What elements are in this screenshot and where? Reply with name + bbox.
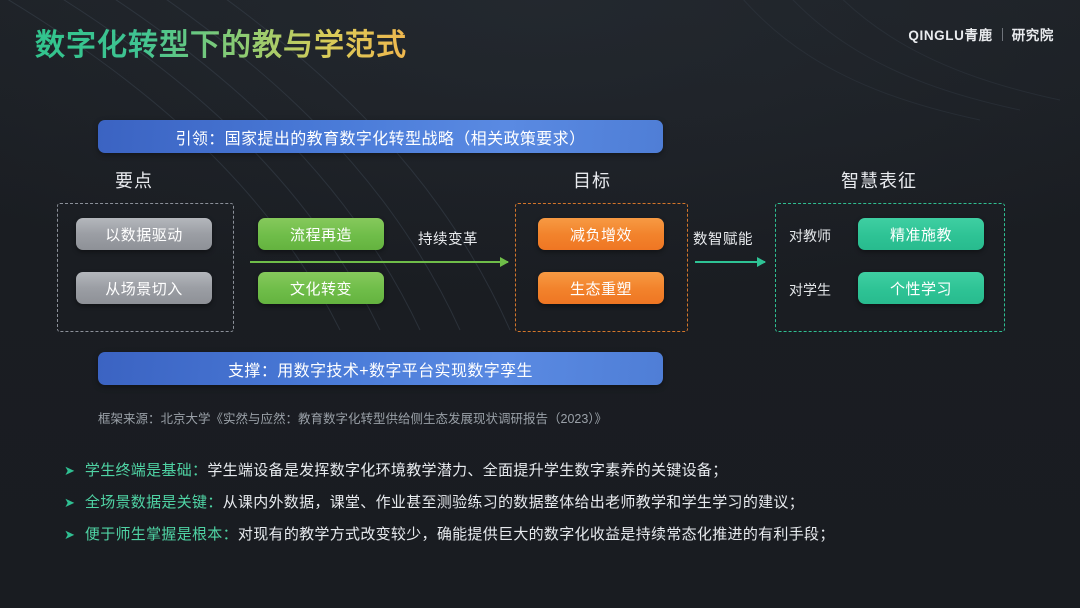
list-item: ➤ 便于师生掌握是根本： 对现有的教学方式改变较少，确能提供巨大的数字化收益是持…	[64, 523, 1064, 544]
box-reduce-burden[interactable]: 减负增效	[538, 218, 664, 250]
bullet-arrow-icon: ➤	[64, 464, 75, 477]
bullet-key-text: 学生终端是基础：	[85, 459, 207, 480]
banner-leadership: 引领：国家提出的教育数字化转型战略（相关政策要求）	[98, 120, 663, 153]
label-for-student: 对学生	[789, 280, 831, 300]
box-scene-entry[interactable]: 从场景切入	[76, 272, 212, 304]
logo-divider	[1002, 28, 1003, 41]
list-item: ➤ 学生终端是基础： 学生端设备是发挥数字化环境教学潜力、全面提升学生数字素养的…	[64, 459, 1064, 480]
brand-logo: QINGLU青鹿 研究院	[908, 24, 1054, 44]
arrow-right-teal-icon	[695, 261, 765, 263]
page-title: 数字化转型下的教与学范式	[35, 20, 407, 64]
box-ecology-reshape[interactable]: 生态重塑	[538, 272, 664, 304]
label-for-teacher: 对教师	[789, 226, 831, 246]
arrow-label-continuous-change: 持续变革	[418, 228, 478, 249]
slide-canvas: 数字化转型下的教与学范式 QINGLU青鹿 研究院 引领：国家提出的教育数字化转…	[0, 0, 1080, 608]
column-heading-smart: 智慧表征	[841, 167, 917, 193]
arrow-label-digital-empower: 数智赋能	[693, 228, 753, 249]
box-culture-change[interactable]: 文化转变	[258, 272, 384, 304]
logo-secondary-text: 研究院	[1012, 24, 1054, 44]
column-heading-goals: 目标	[573, 167, 611, 193]
arrow-head	[500, 257, 509, 267]
bullet-body-text: 从课内外数据，课堂、作业甚至测验练习的数据整体给出老师教学和学生学习的建议；	[223, 491, 804, 512]
bullet-key-text: 便于师生掌握是根本：	[85, 523, 238, 544]
arrow-right-green-icon	[250, 261, 508, 263]
list-item: ➤ 全场景数据是关键： 从课内外数据，课堂、作业甚至测验练习的数据整体给出老师教…	[64, 491, 1064, 512]
bullet-list: ➤ 学生终端是基础： 学生端设备是发挥数字化环境教学潜力、全面提升学生数字素养的…	[64, 459, 1064, 555]
logo-primary-text: QINGLU青鹿	[908, 24, 992, 44]
box-process-reengineering[interactable]: 流程再造	[258, 218, 384, 250]
source-note: 框架来源：北京大学《实然与应然：教育数字化转型供给侧生态发展现状调研报告（202…	[98, 408, 607, 427]
arrow-shaft	[250, 261, 508, 263]
arrow-head	[757, 257, 766, 267]
bullet-key-text: 全场景数据是关键：	[85, 491, 223, 512]
bullet-arrow-icon: ➤	[64, 496, 75, 509]
arrow-shaft	[695, 261, 765, 263]
banner-support: 支撑：用数字技术+数字平台实现数字孪生	[98, 352, 663, 385]
box-personalized-learning[interactable]: 个性学习	[858, 272, 984, 304]
bullet-body-text: 学生端设备是发挥数字化环境教学潜力、全面提升学生数字素养的关键设备；	[207, 459, 727, 480]
box-data-driven[interactable]: 以数据驱动	[76, 218, 212, 250]
bullet-arrow-icon: ➤	[64, 528, 75, 541]
box-precise-teaching[interactable]: 精准施教	[858, 218, 984, 250]
bullet-body-text: 对现有的教学方式改变较少，确能提供巨大的数字化收益是持续常态化推进的有利手段；	[238, 523, 835, 544]
column-heading-points: 要点	[115, 167, 153, 193]
